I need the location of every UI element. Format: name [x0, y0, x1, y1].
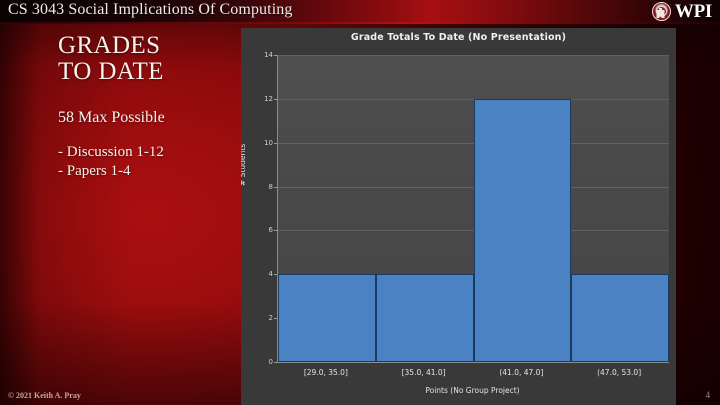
presentation-slide: CS 3043 Social Implications Of Computing…: [0, 0, 720, 405]
chart-x-axis-label: Points (No Group Project): [277, 386, 668, 395]
chart-bar: [474, 99, 572, 362]
chart-y-tick-mark: [274, 362, 277, 363]
chart-y-tick-label: 6: [243, 226, 273, 234]
chart-y-tick-label: 14: [243, 51, 273, 59]
page-number: 4: [706, 390, 711, 400]
chart-y-tick-mark: [274, 318, 277, 319]
chart-title: Grade Totals To Date (No Presentation): [241, 32, 676, 43]
course-title: CS 3043 Social Implications Of Computing: [8, 1, 292, 19]
chart-x-tick-label: (47.0, 53.0]: [597, 368, 641, 377]
grade-totals-chart: Grade Totals To Date (No Presentation) #…: [241, 28, 676, 405]
slide-header-underline: [0, 22, 720, 24]
wpi-logo: WPI: [652, 1, 712, 21]
chart-y-tick-mark: [274, 55, 277, 56]
chart-y-tick-label: 0: [243, 358, 273, 366]
chart-x-tick-label: (41.0, 47.0]: [499, 368, 543, 377]
chart-y-tick-label: 12: [243, 95, 273, 103]
wpi-wordmark: WPI: [675, 2, 712, 21]
list-item: - Discussion 1-12: [58, 143, 164, 162]
list-item: - Papers 1-4: [58, 162, 164, 181]
max-possible-subtitle: 58 Max Possible: [58, 109, 165, 127]
chart-plot-area: [277, 55, 669, 363]
chart-y-tick-label: 10: [243, 139, 273, 147]
chart-y-axis-label: # Students: [241, 144, 247, 186]
chart-bar: [376, 274, 474, 362]
chart-x-tick-label: [35.0, 41.0]: [402, 368, 446, 377]
chart-gridline: [278, 55, 669, 56]
chart-bar: [571, 274, 669, 362]
chart-y-tick-label: 2: [243, 314, 273, 322]
bullet-list: - Discussion 1-12 - Papers 1-4: [58, 143, 164, 181]
chart-y-tick-mark: [274, 99, 277, 100]
page-title: GRADES TO DATE: [58, 33, 238, 85]
wpi-seal-icon: [652, 2, 671, 21]
chart-y-tick-label: 4: [243, 270, 273, 278]
copyright-notice: © 2021 Keith A. Pray: [8, 391, 81, 400]
chart-y-tick-mark: [274, 230, 277, 231]
chart-y-tick-mark: [274, 143, 277, 144]
chart-y-tick-mark: [274, 187, 277, 188]
chart-x-tick-label: [29.0, 35.0]: [304, 368, 348, 377]
page-title-line-2: TO DATE: [58, 59, 238, 85]
chart-bar: [278, 274, 376, 362]
page-title-line-1: GRADES: [58, 33, 238, 59]
chart-y-tick-mark: [274, 274, 277, 275]
chart-y-tick-label: 8: [243, 183, 273, 191]
